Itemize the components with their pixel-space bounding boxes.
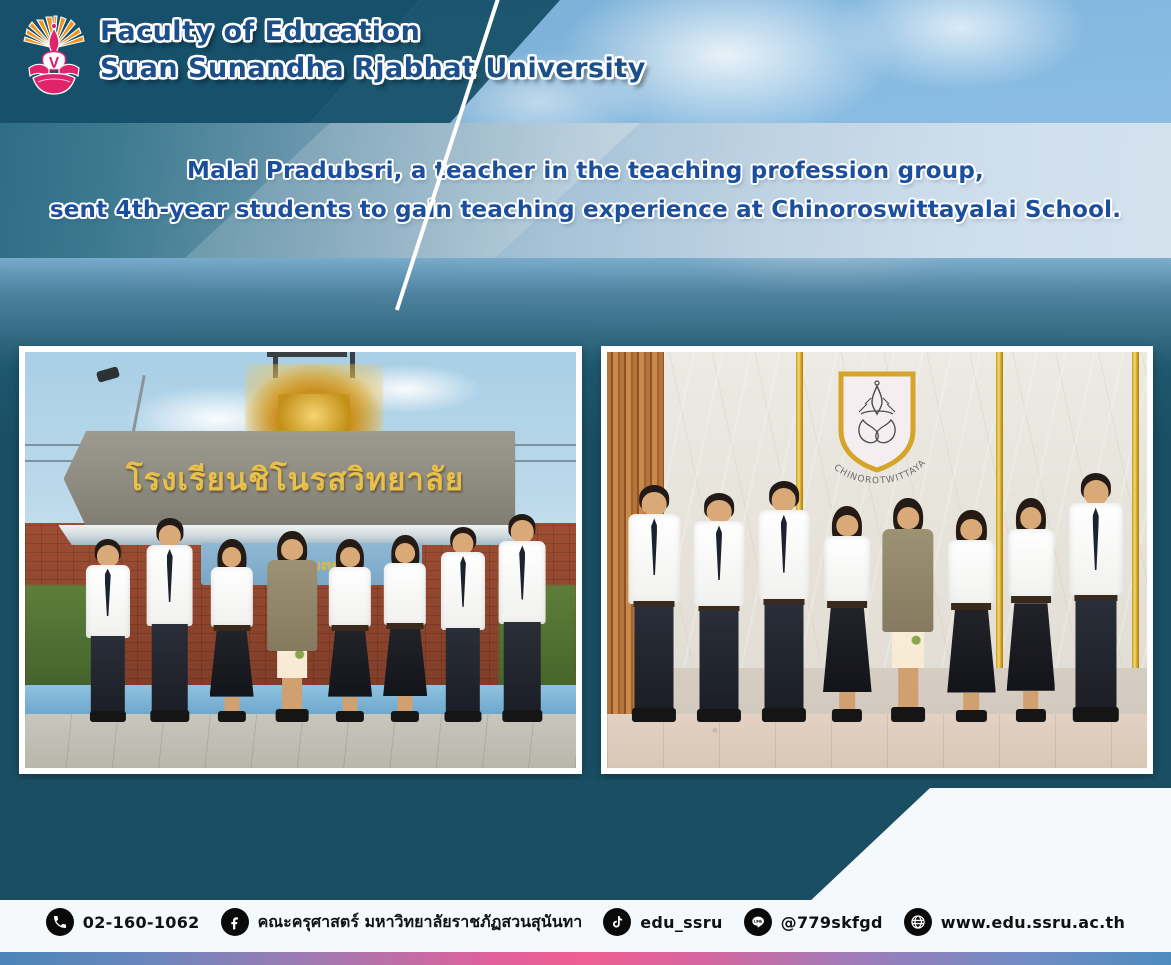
photo-left-school-sign: โรงเรียนชิโนรสวิทยาลัย พ.ศ. ຒຕຕຕ — [19, 346, 582, 774]
person-figure — [383, 535, 427, 722]
contact-phone-label: 02-160-1062 — [83, 913, 200, 932]
brand-title-block: Faculty of Education Suan Sunandha Rjabh… — [100, 18, 646, 92]
person-figure — [823, 506, 872, 722]
person-figure — [1007, 498, 1056, 723]
headline-banner: Malai Pradubsri, a teacher in the teachi… — [0, 123, 1171, 258]
headline-line-1: Malai Pradubsri, a teacher in the teachi… — [187, 158, 984, 184]
brand-university-line: Suan Sunandha Rjabhat University — [100, 55, 646, 82]
facebook-icon — [221, 908, 249, 936]
right-photo-floor — [607, 714, 1147, 768]
tiktok-icon — [603, 908, 631, 936]
person-figure — [758, 481, 809, 722]
contact-facebook-label: คณะครุศาสตร์ มหาวิทยาลัยราชภัฏสวนสุนันทา — [258, 910, 583, 935]
contact-website[interactable]: www.edu.ssru.ac.th — [904, 908, 1125, 936]
brand-faculty-line: Faculty of Education — [100, 18, 646, 45]
person-figure-teacher — [882, 498, 933, 723]
contact-line[interactable]: @779skfgd — [744, 908, 883, 936]
contact-tiktok[interactable]: edu_ssru — [603, 908, 722, 936]
person-figure — [947, 510, 996, 722]
contact-line-label: @779skfgd — [781, 913, 883, 932]
person-figure-teacher — [267, 531, 317, 722]
left-photo-sign-text: โรงเรียนชิโนรสวิทยาลัย — [80, 439, 510, 518]
school-crest-emblem: CHINOROTWITTAYALAI SCHOOL — [823, 364, 931, 492]
person-figure — [146, 518, 193, 722]
phone-icon — [46, 908, 74, 936]
photo-right-school-hall: CHINOROTWITTAYALAI SCHOOL — [601, 346, 1153, 774]
person-figure — [328, 539, 372, 722]
person-figure — [629, 485, 680, 722]
contact-website-label: www.edu.ssru.ac.th — [941, 913, 1125, 932]
contact-phone[interactable]: 02-160-1062 — [46, 908, 200, 936]
footer-gradient-strip — [0, 952, 1171, 965]
person-figure — [441, 527, 485, 723]
contact-facebook[interactable]: คณะครุศาสตร์ มหาวิทยาลัยราชภัฏสวนสุนันทา — [221, 908, 583, 936]
headline-text-block: Malai Pradubsri, a teacher in the teachi… — [0, 123, 1171, 258]
person-figure — [693, 493, 744, 722]
poster-canvas: Faculty of Education Suan Sunandha Rjabh… — [0, 0, 1171, 965]
right-photo-gold-strip — [996, 352, 1003, 668]
person-figure — [210, 539, 254, 722]
line-icon — [744, 908, 772, 936]
person-figure — [1069, 473, 1123, 723]
university-logo — [19, 14, 89, 102]
globe-icon — [904, 908, 932, 936]
right-photo-gold-strip — [1132, 352, 1139, 668]
left-photo-steel-beam — [267, 352, 347, 357]
photo-left-content: โรงเรียนชิโนรสวิทยาลัย พ.ศ. ຒຕຕຕ — [25, 352, 576, 768]
headline-line-2: sent 4th-year students to gain teaching … — [50, 197, 1121, 223]
person-figure — [499, 514, 546, 722]
contact-tiktok-label: edu_ssru — [640, 913, 722, 932]
footer-contact-list: 02-160-1062 คณะครุศาสตร์ มหาวิทยาลัยราชภ… — [46, 908, 1125, 936]
person-figure — [86, 539, 130, 722]
photo-right-content: CHINOROTWITTAYALAI SCHOOL — [607, 352, 1147, 768]
